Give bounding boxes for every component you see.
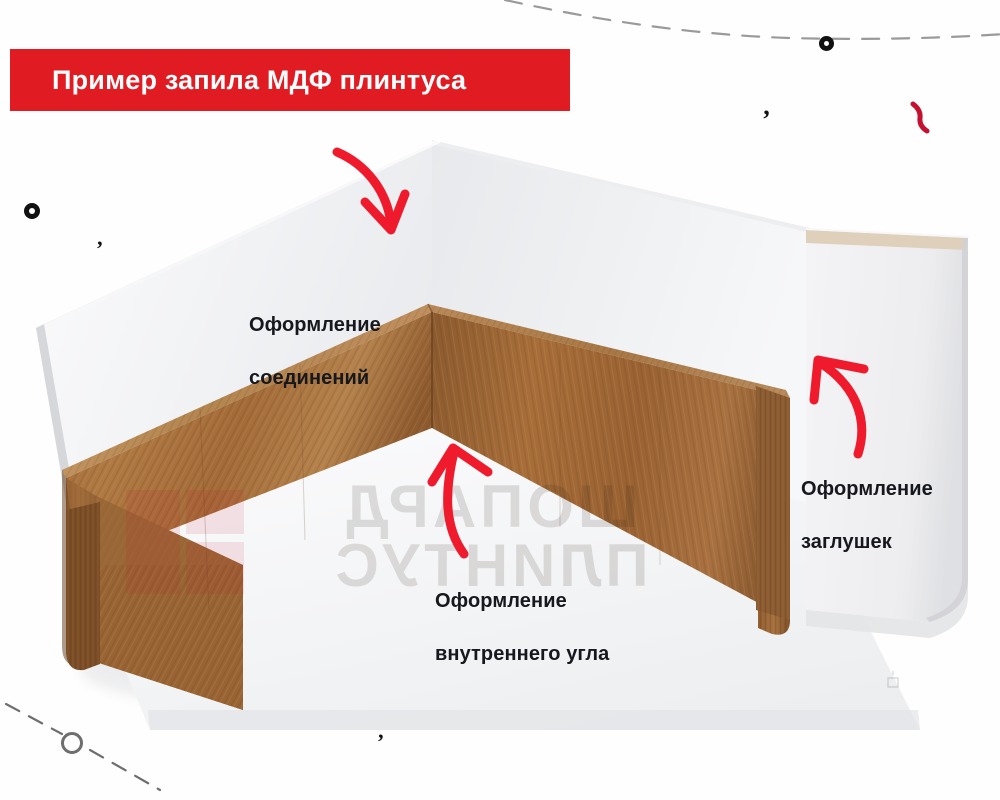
callout-joints: Оформление соединений <box>249 286 381 418</box>
callout-joints-line1: Оформление <box>249 312 381 338</box>
callout-inner-corner-line2: внутреннего угла <box>435 641 609 667</box>
callout-inner-corner-line1: Оформление <box>435 588 609 614</box>
ring-icon-top-right <box>819 36 834 51</box>
callout-end-caps-line1: Оформление <box>801 476 933 502</box>
page-title: Пример запила МДФ плинтуса <box>52 65 466 96</box>
callout-joints-line2: соединений <box>249 365 381 391</box>
screenshot-canvas: .ring-solid[data-name="ring-icon-top-rig… <box>0 0 1000 800</box>
open-ring-icon-bottom-left <box>61 732 83 754</box>
callout-inner-corner: Оформление внутреннего угла <box>435 562 609 694</box>
title-banner: Пример запила МДФ плинтуса <box>10 49 570 111</box>
dashed-line-top-right <box>500 0 1000 64</box>
callout-end-caps: Оформление заглушек <box>801 450 933 582</box>
comma-mark-bottom: ’ <box>377 731 384 753</box>
callout-end-caps-line2: заглушек <box>801 529 933 555</box>
